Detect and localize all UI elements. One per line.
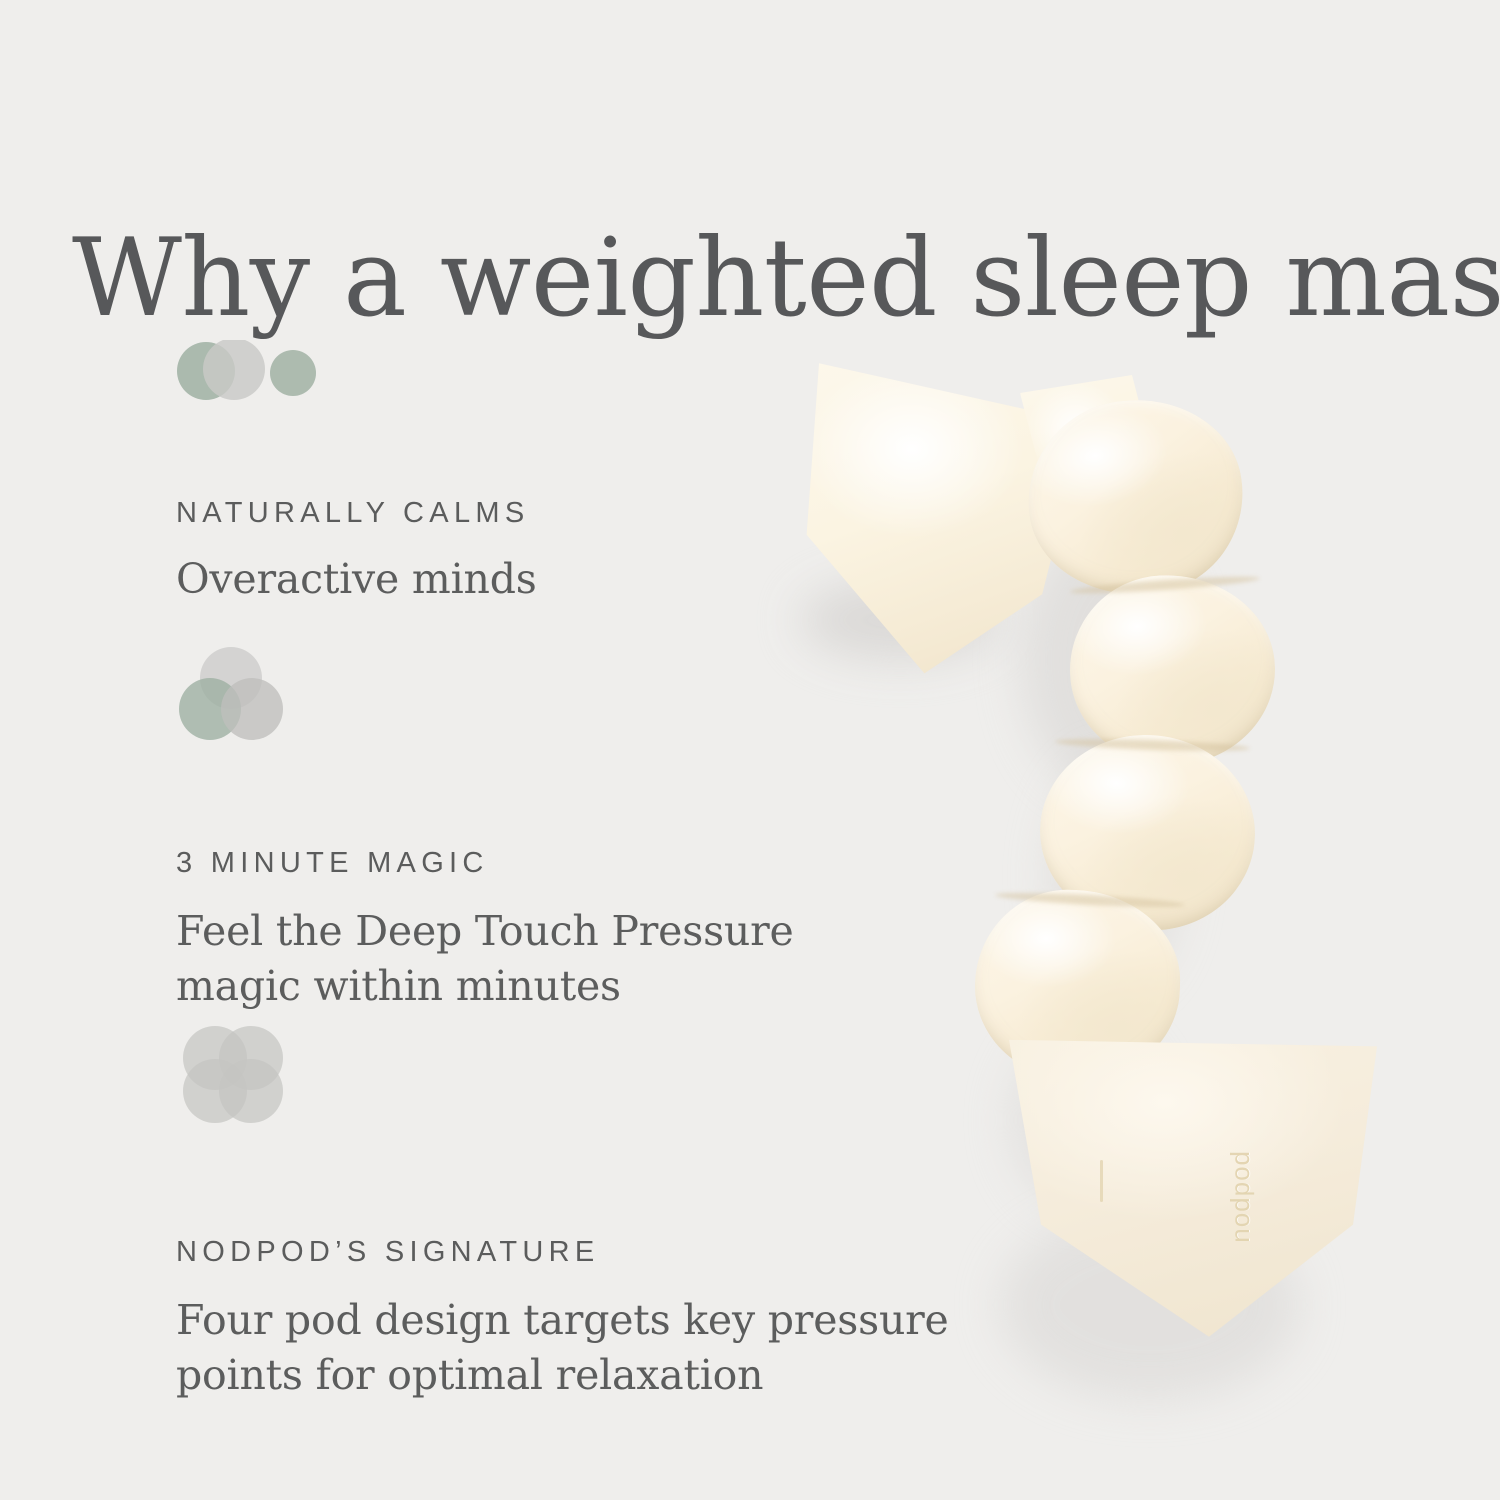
weighted-sleep-mask-product-photo: nodpod xyxy=(770,330,1410,1390)
feature-body-line: Feel the Deep Touch Pressure xyxy=(176,904,794,959)
feature-item-3-minute-magic: 3 MINUTE MAGIC Feel the Deep Touch Press… xyxy=(176,645,794,1013)
two-overlapping-circles-plus-dot-icon xyxy=(176,340,537,402)
feature-item-naturally-calms: NATURALLY CALMS Overactive minds xyxy=(176,340,537,607)
feature-body-line: Overactive minds xyxy=(176,552,537,607)
three-circle-venn-icon xyxy=(176,645,794,743)
product-brand-emboss: nodpod xyxy=(1225,1150,1256,1243)
marketing-panel: Why a weighted sleep mask? NATURALLY CAL… xyxy=(0,0,1500,1500)
feature-label: 3 MINUTE MAGIC xyxy=(176,847,794,880)
feature-body: Overactive minds xyxy=(176,552,537,607)
product-logo-tick xyxy=(1100,1160,1103,1202)
feature-body: Feel the Deep Touch Pressure magic withi… xyxy=(176,904,794,1013)
feature-body-line: magic within minutes xyxy=(176,959,794,1014)
page-title: Why a weighted sleep mask? xyxy=(72,222,1438,336)
feature-label: NATURALLY CALMS xyxy=(176,497,537,530)
